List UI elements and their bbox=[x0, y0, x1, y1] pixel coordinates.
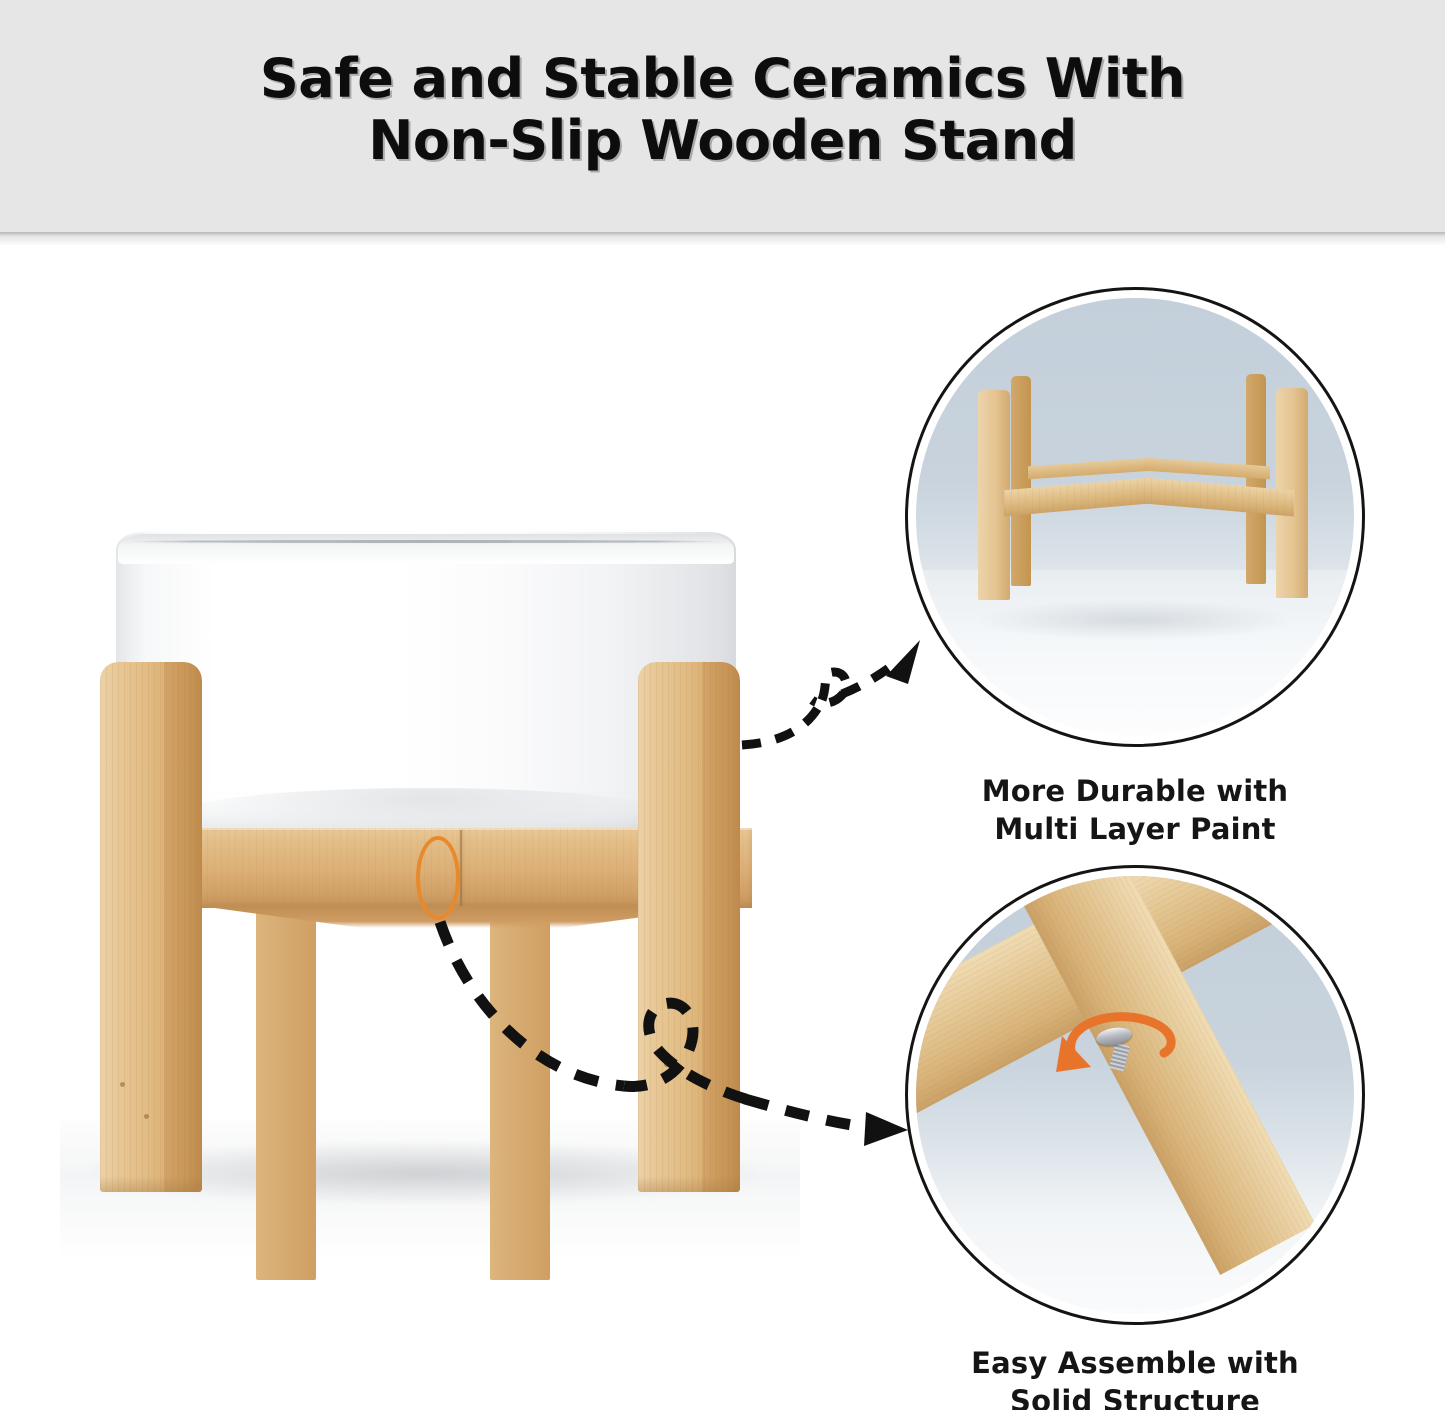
page-title-line-2: Non-Slip Wooden Stand bbox=[0, 110, 1445, 172]
inset-rail-upper-left bbox=[1028, 458, 1154, 480]
caption-durability-line-2: Multi Layer Paint bbox=[905, 810, 1365, 848]
header-divider-shadow bbox=[0, 236, 1445, 246]
caption-durability-line-1: More Durable with bbox=[905, 772, 1365, 810]
leg-grain-right bbox=[638, 662, 740, 1192]
stand-front-leg-right bbox=[638, 662, 740, 1192]
inset-stand-back-leg-left bbox=[1011, 376, 1031, 586]
inset-photo-joint-screw bbox=[916, 876, 1354, 1314]
caption-assembly-line-1: Easy Assemble with bbox=[905, 1344, 1365, 1382]
leg-grain-left bbox=[100, 662, 202, 1192]
leg-foot-right bbox=[638, 1176, 740, 1192]
bowl-rim bbox=[118, 534, 734, 564]
inset-circle-assembly bbox=[905, 865, 1365, 1325]
rail-center-joint-seam bbox=[460, 830, 462, 906]
inset-photo-bamboo-stand bbox=[916, 298, 1354, 736]
inset-rotation-arrow bbox=[916, 876, 1354, 1314]
stand-back-leg-left bbox=[256, 900, 316, 1280]
stand-front-leg-left bbox=[100, 662, 202, 1192]
caption-durability: More Durable with Multi Layer Paint bbox=[905, 772, 1365, 848]
caption-assembly-line-2: Solid Structure bbox=[905, 1382, 1365, 1410]
inset-stand-shadow bbox=[977, 600, 1292, 639]
inset-circle-durability bbox=[905, 287, 1365, 747]
leg-knot-left-1 bbox=[120, 1082, 125, 1087]
leg-knot-right-1 bbox=[664, 1062, 669, 1067]
caption-assembly: Easy Assemble with Solid Structure bbox=[905, 1344, 1365, 1410]
page-title-line-1: Safe and Stable Ceramics With bbox=[0, 48, 1445, 110]
inset-rail-grain-right bbox=[1144, 477, 1294, 516]
inset-rail-main-right bbox=[1144, 477, 1294, 516]
bowl-rim-edge-line bbox=[126, 540, 726, 543]
inset-stand-back-leg-right bbox=[1246, 374, 1266, 584]
infographic-page: Safe and Stable Ceramics With Non-Slip W… bbox=[0, 0, 1445, 1410]
joint-highlight-ellipse bbox=[416, 836, 460, 920]
leg-knot-left-2 bbox=[144, 1114, 149, 1119]
page-title: Safe and Stable Ceramics With Non-Slip W… bbox=[0, 48, 1445, 172]
stand-back-leg-right bbox=[490, 900, 550, 1280]
leg-foot-left bbox=[100, 1176, 202, 1192]
